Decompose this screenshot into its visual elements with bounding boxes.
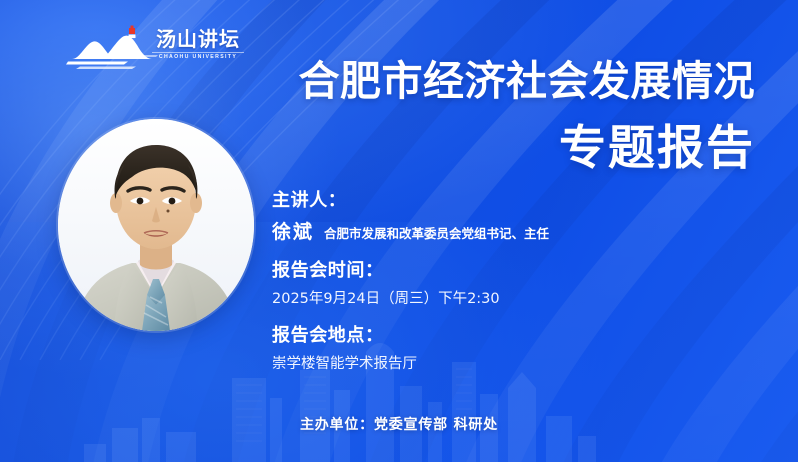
organizer-text: 主办单位：党委宣传部 科研处: [300, 414, 498, 436]
time-value: 2025年9月24日（周三）下午2:30: [272, 288, 692, 310]
place-label: 报告会地点：: [272, 323, 692, 349]
logo-wordmark: 汤山讲坛 CHAOHU UNIVERSITY: [152, 27, 244, 61]
event-poster: 汤山讲坛 CHAOHU UNIVERSITY 合肥市经济社会发展情况 专题报告: [0, 0, 798, 462]
logo-divider: [152, 52, 244, 53]
event-info-block: 主讲人： 徐斌 合肥市发展和改革委员会党组书记、主任 报告会时间： 2025年9…: [272, 188, 692, 375]
speaker-portrait-avatar: [58, 119, 254, 331]
headline-line-2: 专题报告: [299, 122, 756, 176]
poster-footer: 主办单位：党委宣传部 科研处: [0, 414, 798, 436]
poster-headline: 合肥市经济社会发展情况 专题报告: [299, 58, 756, 176]
headline-line-1: 合肥市经济社会发展情况: [299, 58, 756, 104]
time-label: 报告会时间：: [272, 258, 692, 284]
mountain-logo-icon: [66, 25, 164, 73]
logo-name-cn: 汤山讲坛: [152, 27, 244, 51]
university-logo[interactable]: 汤山讲坛 CHAOHU UNIVERSITY: [66, 23, 242, 75]
speaker-name: 徐斌: [272, 219, 314, 245]
speaker-row: 徐斌 合肥市发展和改革委员会党组书记、主任: [272, 219, 692, 245]
speaker-title: 合肥市发展和改革委员会党组书记、主任: [324, 224, 549, 244]
place-value: 崇学楼智能学术报告厅: [272, 353, 692, 375]
logo-name-en: CHAOHU UNIVERSITY: [152, 53, 244, 61]
speaker-label: 主讲人：: [272, 188, 692, 214]
